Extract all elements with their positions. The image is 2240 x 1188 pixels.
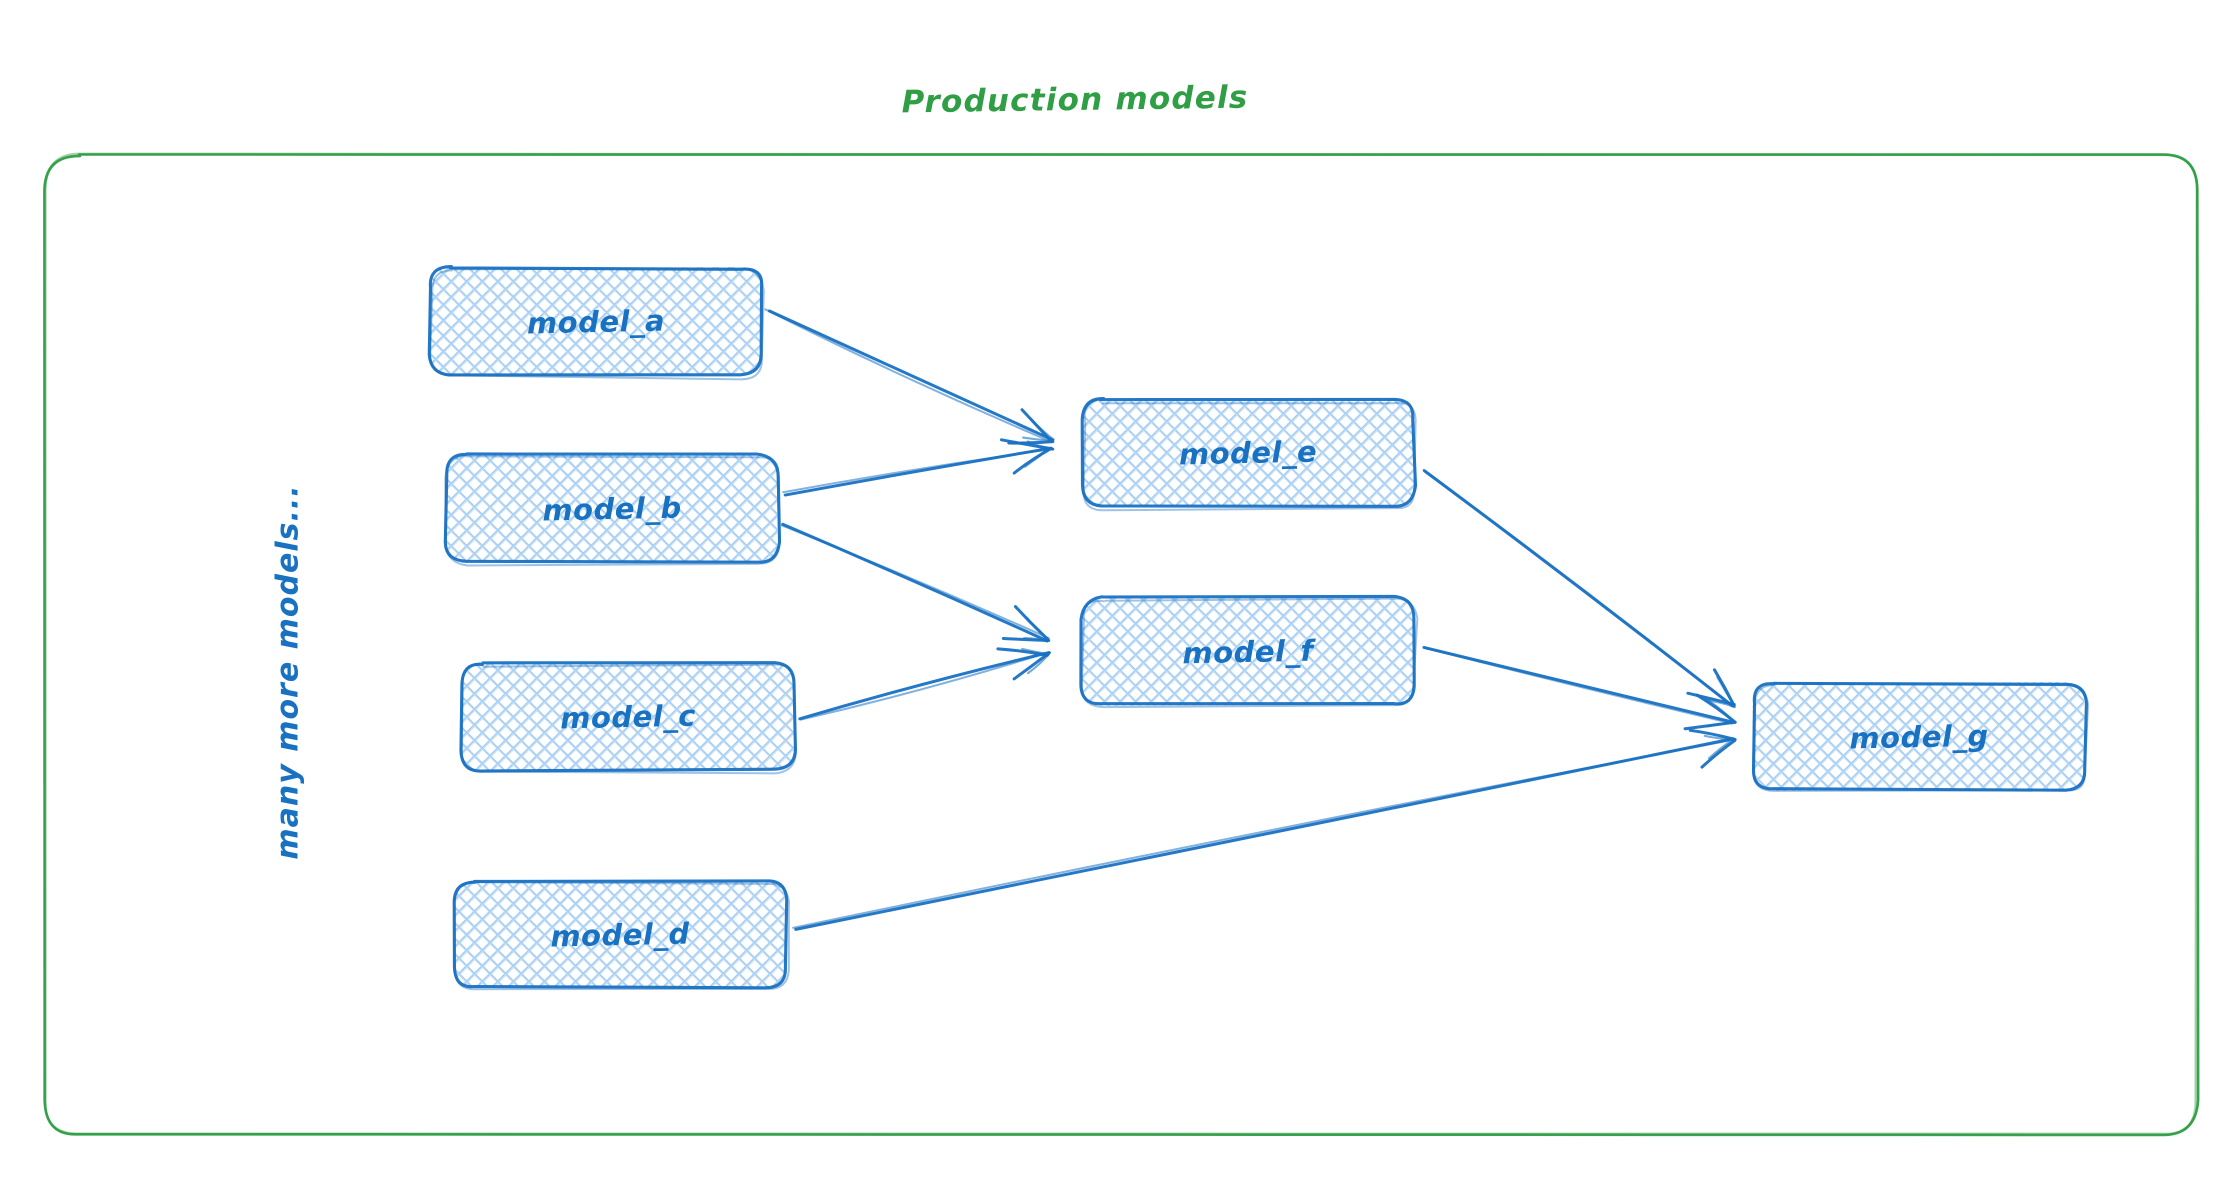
node-model_b[interactable] (445, 454, 779, 566)
edge-model_b-to-model_f (782, 524, 1049, 641)
node-model_a[interactable] (429, 267, 764, 380)
node-model_e[interactable] (1081, 398, 1415, 510)
node-model_f[interactable] (1081, 596, 1417, 707)
diagram-canvas: Production models many more models... mo… (0, 0, 2240, 1188)
edge-model_a-to-model_e (765, 309, 1053, 443)
node-model_c[interactable] (461, 662, 796, 773)
edge-model_c-to-model_f (800, 649, 1050, 720)
node-group (429, 267, 2088, 990)
diagram-vector-layer (0, 0, 2240, 1188)
edge-model_d-to-model_g (793, 730, 1736, 929)
node-model_g[interactable] (1752, 682, 2088, 791)
edge-model_b-to-model_e (783, 440, 1053, 495)
edge-model_f-to-model_g (1424, 647, 1735, 728)
edge-model_e-to-model_g (1423, 470, 1734, 707)
node-model_d[interactable] (454, 881, 789, 990)
